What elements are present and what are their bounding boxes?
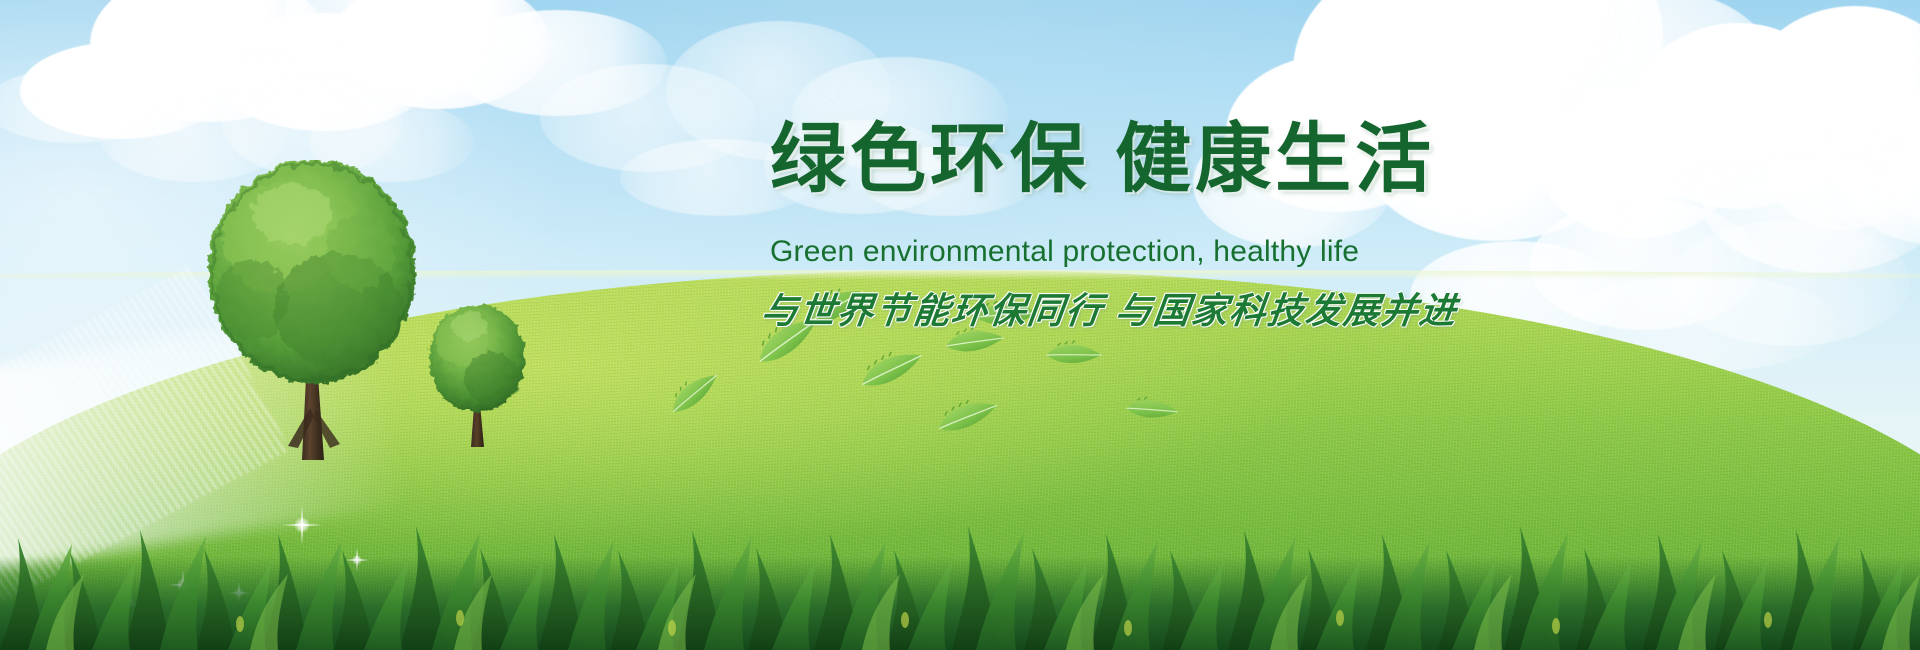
cloud-far-right-wisp bbox=[1770, 80, 1920, 250]
cloud-upper-left bbox=[230, 0, 650, 136]
cloud-top-left bbox=[20, 0, 460, 160]
banner-subheadline: Green environmental protection, healthy … bbox=[770, 235, 1359, 269]
tree-small bbox=[422, 302, 537, 447]
tree-large bbox=[188, 160, 448, 460]
cloud-right-bank bbox=[1540, 0, 1920, 290]
banner-headline: 绿色环保 健康生活 bbox=[770, 122, 1435, 198]
eco-hero-banner: 绿色环保 健康生活 Green environmental protection… bbox=[0, 0, 1920, 650]
banner-slogan: 与世界节能环保同行 与国家科技发展并进 bbox=[759, 282, 1461, 334]
